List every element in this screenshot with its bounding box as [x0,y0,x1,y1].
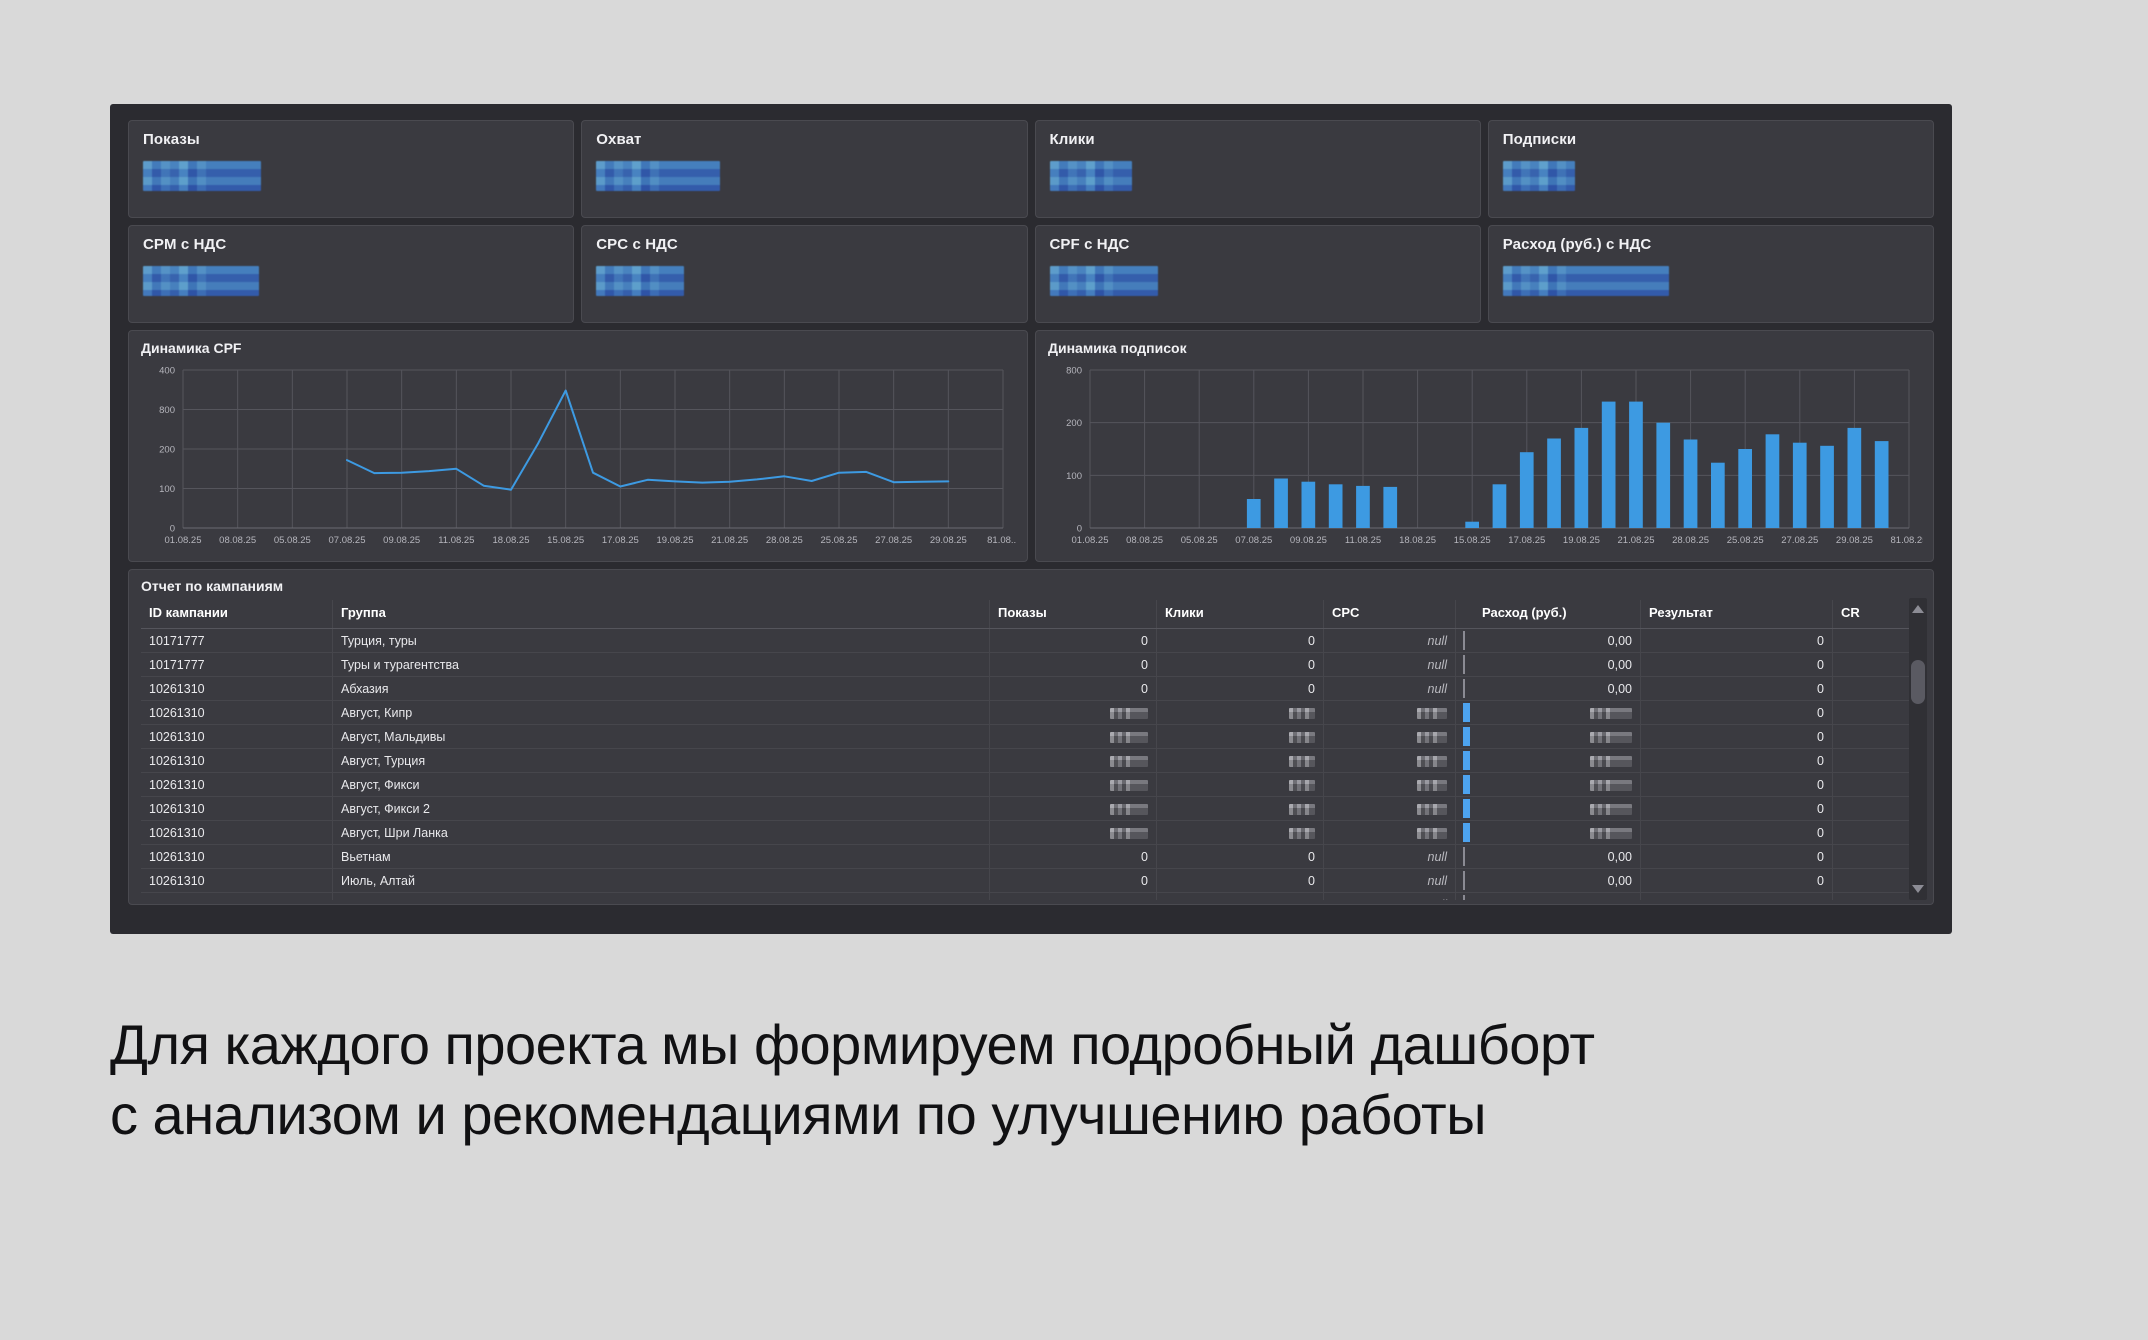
table-cell-id: 10261310 [141,677,333,701]
kpi-card: Подписки [1488,120,1934,218]
subscription-bar [1329,484,1343,528]
chart-card-subscriptions: Динамика подписок 010020080001.08.2508.0… [1035,330,1934,562]
table-cell-result: 0 [1641,701,1833,725]
subscription-bar [1465,522,1479,528]
spend-bar-empty [1463,871,1465,890]
table-cell-clicks: 0 [1157,677,1324,701]
subscription-bar [1711,463,1725,528]
cell-value-redacted [1110,780,1148,791]
table-cell-id: 10261310 [141,797,333,821]
kpi-value-redacted [143,161,261,191]
table-column-header[interactable]: CPC [1324,600,1456,629]
table-cell-group: Август, Фикси 2 [333,797,990,821]
table-cell-result: 0 [1641,629,1833,653]
table-row[interactable]: 10261310Август, Кипр00,00null [141,701,1927,725]
table-cell-clicks [1157,773,1324,797]
cell-value-redacted [1289,828,1315,839]
table-row[interactable]: 10171777Турция, туры00null0,000nullnull [141,629,1927,653]
x-tick-label: 01.08.25 [1072,535,1109,546]
subscription-bar [1629,402,1643,528]
kpi-value [143,159,559,193]
table-cell-indicator-bar [1456,797,1475,821]
table-cell-cpc [1324,725,1456,749]
kpi-card: Расход (руб.) с НДС [1488,225,1934,323]
table-cell-group: Июль, Таиланд [333,893,990,901]
table-row[interactable]: 10261310Абхазия00null0,000nullnull [141,677,1927,701]
x-tick-label: 09.08.25 [1290,535,1327,546]
table-cell-group: Вьетнам [333,845,990,869]
cell-value-redacted [1590,732,1632,743]
subscription-bar [1820,446,1834,528]
table-cell-group: Июль, Алтай [333,869,990,893]
table-cell-result: 0 [1641,749,1833,773]
slide-root: ПоказыОхватКликиПодпискиCPM с НДСCPC с Н… [0,0,2148,1340]
spend-bar-filled [1463,751,1470,770]
cell-value-redacted [1590,708,1632,719]
x-tick-label: 81.08.25 [1891,535,1923,546]
table-cell-spend: 0,00 [1474,629,1641,653]
cell-value-redacted [1590,828,1632,839]
y-tick-label: 200 [159,445,175,456]
table-cell-group: Август, Кипр [333,701,990,725]
table-cell-cpc: null [1324,653,1456,677]
table-title: Отчет по кампаниям [141,578,1927,594]
spend-bar-filled [1463,703,1470,722]
y-tick-label: 100 [1066,471,1082,482]
table-cell-id: 10261310 [141,869,333,893]
table-cell-result: 0 [1641,797,1833,821]
x-tick-label: 11.08.25 [438,535,474,546]
table-cell-group: Туры и турагентства [333,653,990,677]
table-cell-clicks [1157,725,1324,749]
table-cell-clicks: 0 [1157,893,1324,901]
table-cell-spend [1474,821,1641,845]
x-tick-label: 17.08.25 [1508,535,1545,546]
table-cell-indicator-bar [1456,845,1475,869]
table-cell-indicator-bar [1456,893,1475,901]
kpi-card: Показы [128,120,574,218]
x-tick-label: 18.08.25 [493,535,530,546]
table-cell-cpc [1324,773,1456,797]
table-column-header[interactable] [1456,600,1475,629]
subscription-bar [1302,482,1316,528]
table-column-header[interactable]: Результат [1641,600,1833,629]
table-cell-spend: 0,00 [1474,677,1641,701]
x-tick-label: 27.08.25 [875,535,912,546]
kpi-value-redacted [1503,266,1669,296]
y-tick-label: 100 [159,484,175,495]
table-column-header[interactable]: Расход (руб.) [1474,600,1641,629]
x-tick-label: 28.08.25 [766,535,803,546]
table-scroll-area[interactable]: ID кампанииГруппаПоказыКликиCPCРасход (р… [141,600,1927,900]
table-cell-impressions [990,797,1157,821]
subscription-bar [1520,452,1534,528]
table-cell-impressions [990,725,1157,749]
table-cell-result: 0 [1641,869,1833,893]
kpi-label: Показы [143,131,559,149]
kpi-value-redacted [596,266,684,296]
subscription-bar [1356,486,1370,528]
table-cell-group: Абхазия [333,677,990,701]
table-cell-cpc: null [1324,629,1456,653]
spend-bar-empty [1463,655,1465,674]
chart-svg: 010020080001.08.2508.08.2505.08.2507.08.… [1048,358,1923,554]
table-cell-spend: 0,00 [1474,845,1641,869]
x-tick-label: 19.08.25 [1563,535,1600,546]
table-row[interactable]: 10261310Август, Мальдивы00,00null [141,725,1927,749]
subscription-bar [1547,439,1561,529]
table-row[interactable]: 10261310Июль, Алтай00null0,000nullnull [141,869,1927,893]
subscription-bar [1602,402,1616,528]
cell-value-redacted [1417,804,1447,815]
table-cell-id: 10261310 [141,749,333,773]
scroll-down-arrow-icon[interactable] [1909,880,1927,898]
table-cell-indicator-bar [1456,701,1475,725]
table-cell-indicator-bar [1456,677,1475,701]
x-tick-label: 17.08.25 [602,535,639,546]
spend-bar-filled [1463,727,1470,746]
table-cell-clicks: 0 [1157,869,1324,893]
table-cell-clicks [1157,821,1324,845]
table-column-header[interactable]: Группа [333,600,990,629]
y-tick-label: 800 [1066,366,1082,377]
chart-title-subscriptions: Динамика подписок [1048,340,1923,356]
slide-caption: Для каждого проекта мы формируем подробн… [110,1010,1910,1150]
kpi-value [596,264,1012,298]
cell-value-redacted [1110,804,1148,815]
kpi-value [1503,264,1919,298]
table-cell-cpc: null [1324,893,1456,901]
table-cell-result: 0 [1641,773,1833,797]
cell-value-redacted [1417,708,1447,719]
table-column-header[interactable]: Показы [990,600,1157,629]
scroll-up-arrow-icon[interactable] [1909,600,1927,618]
table-cell-impressions [990,773,1157,797]
x-tick-label: 81.08... [987,535,1017,546]
table-cell-impressions [990,749,1157,773]
analytics-dashboard: ПоказыОхватКликиПодпискиCPM с НДСCPC с Н… [110,104,1952,934]
x-tick-label: 05.08.25 [1181,535,1218,546]
table-header-row: ID кампанииГруппаПоказыКликиCPCРасход (р… [141,600,1927,629]
campaign-report-card: Отчет по кампаниям ID кампанииГруппаПока… [128,569,1934,905]
table-cell-group: Турция, туры [333,629,990,653]
kpi-grid: ПоказыОхватКликиПодпискиCPM с НДСCPC с Н… [128,120,1934,323]
cell-value-redacted [1110,756,1148,767]
table-cell-cpc [1324,797,1456,821]
x-tick-label: 05.08.25 [274,535,311,546]
cell-value-redacted [1417,828,1447,839]
cpf-line-series [347,391,948,490]
y-tick-label: 200 [1066,418,1082,429]
spend-bar-empty [1463,895,1465,900]
x-tick-label: 07.08.25 [1235,535,1272,546]
kpi-value [596,159,1012,193]
table-cell-cpc [1324,749,1456,773]
table-cell-clicks: 0 [1157,845,1324,869]
table-cell-result: 0 [1641,653,1833,677]
chart-title-cpf: Динамика CPF [141,340,1017,356]
x-tick-label: 25.08.25 [1727,535,1764,546]
cell-value-redacted [1289,756,1315,767]
table-cell-id: 10171777 [141,629,333,653]
x-tick-label: 08.08.25 [1126,535,1163,546]
subscription-bar [1383,487,1397,528]
table-cell-impressions: 0 [990,869,1157,893]
table-header: ID кампанииГруппаПоказыКликиCPCРасход (р… [141,600,1927,629]
table-cell-impressions: 0 [990,677,1157,701]
kpi-value-redacted [1503,161,1575,191]
x-tick-label: 21.08.25 [711,535,748,546]
chart-card-cpf: Динамика CPF 010020080040001.08.2508.08.… [128,330,1028,562]
caption-line-2: с анализом и рекомендациями по улучшению… [110,1080,1910,1150]
table-cell-result: 0 [1641,677,1833,701]
spend-bar-empty [1463,679,1465,698]
cell-value-redacted [1590,756,1632,767]
kpi-value [143,264,559,298]
kpi-value-redacted [1050,266,1158,296]
cell-value-redacted [1110,732,1148,743]
cell-value-redacted [1289,780,1315,791]
table-row[interactable]: 10261310Август, Шри Ланка00,00null [141,821,1927,845]
chart-svg: 010020080040001.08.2508.08.2505.08.2507.… [141,358,1017,554]
x-tick-label: 28.08.25 [1672,535,1709,546]
table-cell-indicator-bar [1456,821,1475,845]
scrollbar-thumb[interactable] [1911,660,1925,704]
table-cell-clicks [1157,701,1324,725]
spend-bar-empty [1463,847,1465,866]
table-cell-cpc: null [1324,845,1456,869]
x-tick-label: 29.08.25 [930,535,967,546]
x-tick-label: 15.08.25 [547,535,584,546]
subscription-bar [1766,434,1780,528]
subscription-bar [1793,443,1807,528]
x-tick-label: 29.08.25 [1836,535,1873,546]
table-cell-clicks: 0 [1157,653,1324,677]
table-cell-id: 10261310 [141,821,333,845]
kpi-value-redacted [1050,161,1132,191]
cell-value-redacted [1110,708,1148,719]
x-tick-label: 25.08.25 [821,535,858,546]
cell-value-redacted [1289,732,1315,743]
table-row[interactable]: 10261310Июль, Таиланд00null0,000nullnull [141,893,1927,901]
subscription-bar [1875,441,1889,528]
y-tick-label: 0 [170,524,175,535]
table-cell-id: 10261310 [141,725,333,749]
x-tick-label: 15.08.25 [1454,535,1491,546]
table-cell-clicks [1157,749,1324,773]
table-cell-impressions [990,821,1157,845]
spend-bar-filled [1463,823,1470,842]
table-cell-id: 10261310 [141,773,333,797]
table-cell-indicator-bar [1456,773,1475,797]
kpi-label: Клики [1050,131,1466,149]
cell-value-redacted [1417,780,1447,791]
kpi-card: CPF с НДС [1035,225,1481,323]
subscription-bar [1575,428,1589,528]
kpi-label: Охват [596,131,1012,149]
table-cell-indicator-bar [1456,725,1475,749]
table-cell-clicks [1157,797,1324,821]
table-cell-impressions: 0 [990,629,1157,653]
cpf-line-plot: 010020080040001.08.2508.08.2505.08.2507.… [141,358,1017,554]
kpi-value [1050,264,1466,298]
table-cell-result: 0 [1641,845,1833,869]
table-row[interactable]: 10261310Август, Фикси00,00null [141,773,1927,797]
spend-bar-empty [1463,631,1465,650]
table-cell-group: Август, Шри Ланка [333,821,990,845]
kpi-label: CPF с НДС [1050,236,1466,254]
subscription-bar [1684,440,1698,529]
table-vertical-scrollbar[interactable] [1909,598,1927,900]
x-tick-label: 09.08.25 [383,535,420,546]
kpi-value [1050,159,1466,193]
table-cell-group: Август, Фикси [333,773,990,797]
x-tick-label: 19.08.25 [657,535,694,546]
table-cell-group: Август, Турция [333,749,990,773]
subscription-bar [1274,479,1288,529]
caption-line-1: Для каждого проекта мы формируем подробн… [110,1010,1910,1080]
table-cell-id: 10261310 [141,893,333,901]
cell-value-redacted [1110,828,1148,839]
spend-bar-filled [1463,799,1470,818]
table-column-header[interactable]: Клики [1157,600,1324,629]
table-body: 10171777Турция, туры00null0,000nullnull1… [141,629,1927,901]
table-cell-indicator-bar [1456,629,1475,653]
table-row[interactable]: 10261310Вьетнам00null0,000nullnull [141,845,1927,869]
kpi-card: Охват [581,120,1027,218]
subscription-bar [1848,428,1862,528]
x-tick-label: 11.08.25 [1345,535,1381,546]
table-cell-impressions: 0 [990,893,1157,901]
spend-bar-filled [1463,775,1470,794]
table-row[interactable]: 10171777Туры и турагентства00null0,000nu… [141,653,1927,677]
x-tick-label: 18.08.25 [1399,535,1436,546]
subscription-bar [1247,499,1261,528]
kpi-card: CPC с НДС [581,225,1027,323]
table-cell-result: 0 [1641,725,1833,749]
table-cell-result: 0 [1641,821,1833,845]
table-cell-cpc: null [1324,869,1456,893]
cell-value-redacted [1417,756,1447,767]
x-tick-label: 21.08.25 [1618,535,1655,546]
kpi-card: Клики [1035,120,1481,218]
campaign-report-table: ID кампанииГруппаПоказыКликиCPCРасход (р… [141,600,1927,900]
x-tick-label: 07.08.25 [329,535,366,546]
kpi-label: Подписки [1503,131,1919,149]
cell-value-redacted [1289,708,1315,719]
table-cell-id: 10171777 [141,653,333,677]
table-cell-clicks: 0 [1157,629,1324,653]
table-cell-spend [1474,773,1641,797]
y-tick-label: 0 [1077,524,1082,535]
table-cell-group: Август, Мальдивы [333,725,990,749]
subscription-bar [1656,423,1670,528]
cell-value-redacted [1590,780,1632,791]
table-cell-id: 10261310 [141,845,333,869]
charts-row: Динамика CPF 010020080040001.08.2508.08.… [128,330,1934,562]
table-cell-impressions [990,701,1157,725]
table-cell-spend [1474,797,1641,821]
x-tick-label: 01.08.25 [165,535,202,546]
table-cell-spend [1474,749,1641,773]
cell-value-redacted [1417,732,1447,743]
table-row[interactable]: 10261310Август, Турция00,00null [141,749,1927,773]
table-cell-indicator-bar [1456,749,1475,773]
x-tick-label: 27.08.25 [1781,535,1818,546]
kpi-value-redacted [143,266,259,296]
kpi-value-redacted [596,161,720,191]
kpi-label: CPM с НДС [143,236,559,254]
table-row[interactable]: 10261310Август, Фикси 200,00null [141,797,1927,821]
kpi-label: Расход (руб.) с НДС [1503,236,1919,254]
kpi-value [1503,159,1919,193]
cell-value-redacted [1289,804,1315,815]
table-cell-indicator-bar [1456,869,1475,893]
table-cell-cpc [1324,821,1456,845]
table-cell-spend: 0,00 [1474,653,1641,677]
table-cell-spend: 0,00 [1474,869,1641,893]
table-cell-indicator-bar [1456,653,1475,677]
x-tick-label: 08.08.25 [219,535,256,546]
table-cell-spend [1474,725,1641,749]
table-cell-result: 0 [1641,893,1833,901]
kpi-card: CPM с НДС [128,225,574,323]
table-cell-impressions: 0 [990,845,1157,869]
table-cell-spend: 0,00 [1474,893,1641,901]
y-tick-label: 400 [159,366,175,377]
table-cell-spend [1474,701,1641,725]
table-cell-impressions: 0 [990,653,1157,677]
subscription-bar [1493,484,1507,528]
cell-value-redacted [1590,804,1632,815]
table-column-header[interactable]: ID кампании [141,600,333,629]
table-cell-id: 10261310 [141,701,333,725]
subscriptions-bar-plot: 010020080001.08.2508.08.2505.08.2507.08.… [1048,358,1923,554]
subscription-bar [1738,449,1752,528]
y-tick-label: 800 [159,405,175,416]
table-cell-cpc [1324,701,1456,725]
kpi-label: CPC с НДС [596,236,1012,254]
table-cell-cpc: null [1324,677,1456,701]
